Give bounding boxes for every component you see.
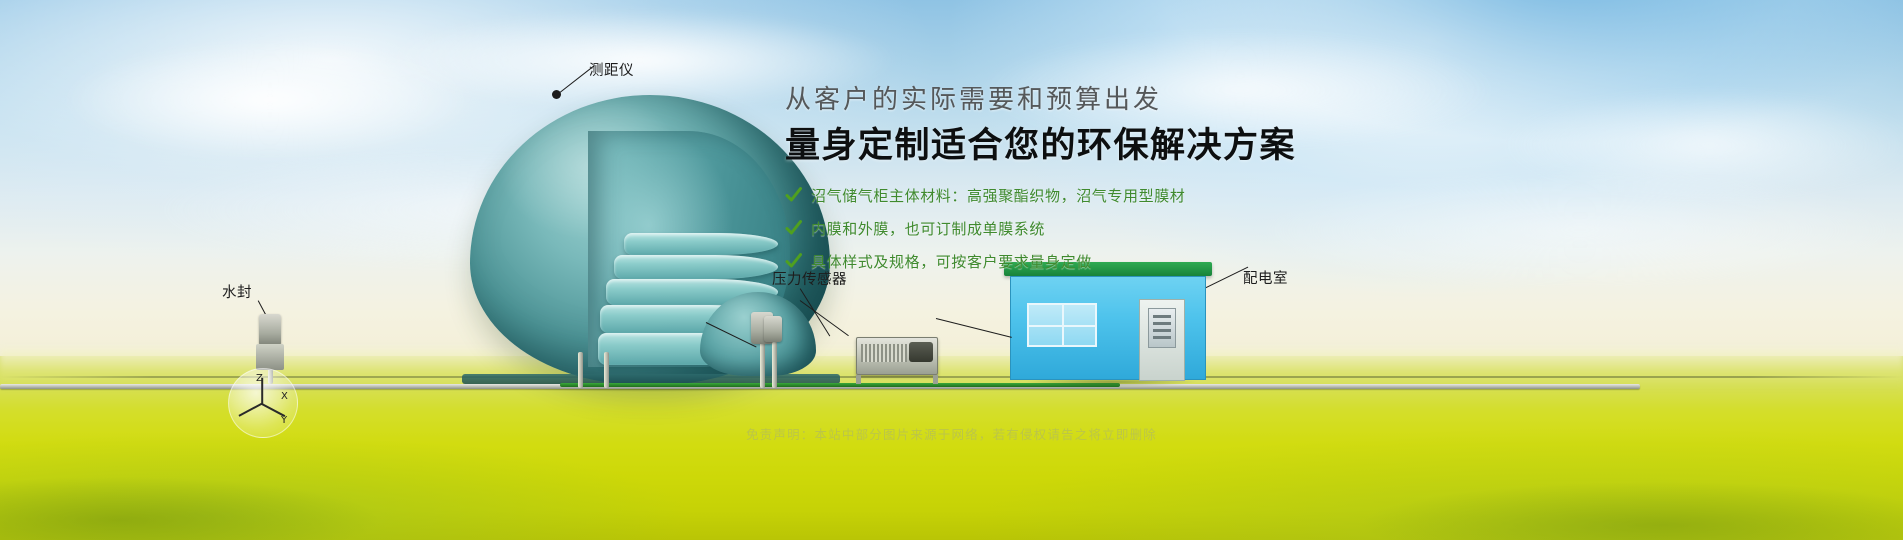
banner-copy-block: 从客户的实际需要和预算出发 量身定制适合您的环保解决方案 沼气储气柜主体材料：高… <box>785 84 1405 284</box>
bullet-label: 内膜和外膜，也可订制成单膜系统 <box>811 218 1045 239</box>
house-door <box>1139 299 1185 381</box>
banner-title: 量身定制适合您的环保解决方案 <box>785 125 1405 167</box>
compressor-legs <box>856 375 938 384</box>
compressor-unit <box>856 337 938 375</box>
banner-subtitle: 从客户的实际需要和预算出发 <box>785 84 1405 117</box>
compressor-motor <box>909 342 933 362</box>
compressor-grill <box>861 344 907 362</box>
label-water-seal: 水封 <box>222 281 252 302</box>
axis-label-x: X <box>281 391 288 402</box>
feature-bullet-list: 沼气储气柜主体材料：高强聚酯织物，沼气专用型膜材 内膜和外膜，也可订制成单膜系统… <box>785 185 1405 272</box>
water-seal-housing <box>256 344 284 370</box>
house-body <box>1010 276 1206 380</box>
membrane-layer <box>614 255 778 279</box>
label-rangefinder: 测距仪 <box>589 59 634 80</box>
bullet-label: 沼气储气柜主体材料：高强聚酯织物，沼气专用型膜材 <box>811 185 1185 206</box>
bullet-label: 具体样式及规格，可按客户要求量身定做 <box>811 251 1092 272</box>
membrane-layer <box>624 233 778 255</box>
pipe-riser <box>604 352 609 388</box>
check-icon <box>785 253 802 270</box>
control-panel-icon <box>1148 308 1176 348</box>
list-item: 具体样式及规格，可按客户要求量身定做 <box>785 251 1405 272</box>
list-item: 内膜和外膜，也可订制成单膜系统 <box>785 218 1405 239</box>
water-seal-valve <box>259 314 281 346</box>
pipe-riser <box>578 352 583 388</box>
check-icon <box>785 187 802 204</box>
disclaimer-text: 免责声明：本站中部分图片来源于网络，若有侵权请告之将立即删除 <box>0 424 1903 443</box>
banner-stage: 测距仪 水封 压力传感器 配电室 <box>0 0 1903 540</box>
check-icon <box>785 220 802 237</box>
house-window <box>1027 303 1097 347</box>
axis-y-line <box>239 403 263 417</box>
pressure-sensor-valve-small <box>764 316 782 342</box>
control-wire <box>936 318 1012 338</box>
axis-label-z: Z <box>256 373 263 384</box>
list-item: 沼气储气柜主体材料：高强聚酯织物，沼气专用型膜材 <box>785 185 1405 206</box>
